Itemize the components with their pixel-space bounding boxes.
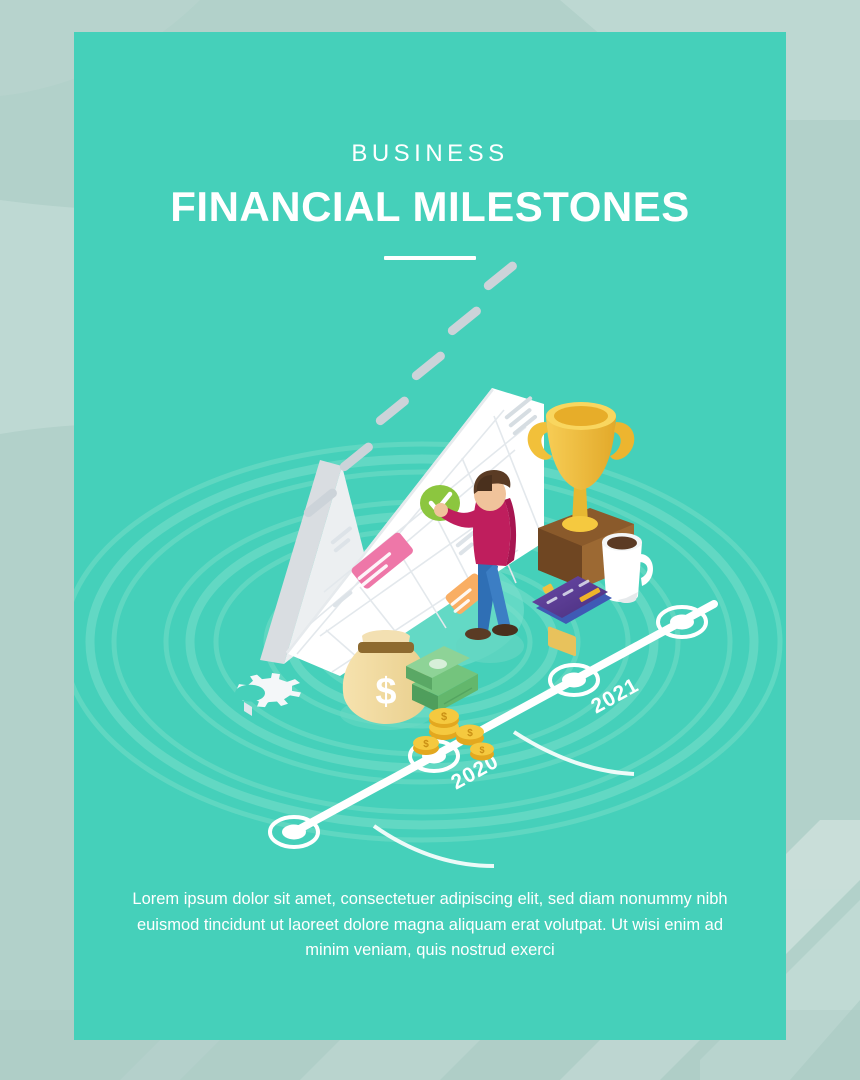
poster-heading: BUSINESS FINANCIAL MILESTONES [74, 32, 786, 260]
svg-text:$: $ [441, 711, 447, 723]
coffee-mug [602, 533, 653, 603]
gear-icon [235, 673, 301, 716]
kicker-text: BUSINESS [74, 142, 786, 166]
title-divider [384, 256, 476, 260]
timeline-node-2021[interactable] [550, 665, 598, 695]
poster-card: 2020 2021 [74, 32, 786, 1040]
poster-canvas: 2020 2021 [0, 0, 860, 1080]
body-copy: Lorem ipsum dolor sit amet, consectetuer… [130, 887, 730, 964]
svg-text:$: $ [375, 671, 396, 713]
svg-text:$: $ [479, 745, 484, 755]
svg-text:$: $ [423, 739, 429, 750]
timeline-node-right[interactable] [658, 607, 706, 637]
svg-text:$: $ [467, 728, 473, 739]
page-title: FINANCIAL MILESTONES [74, 186, 786, 228]
